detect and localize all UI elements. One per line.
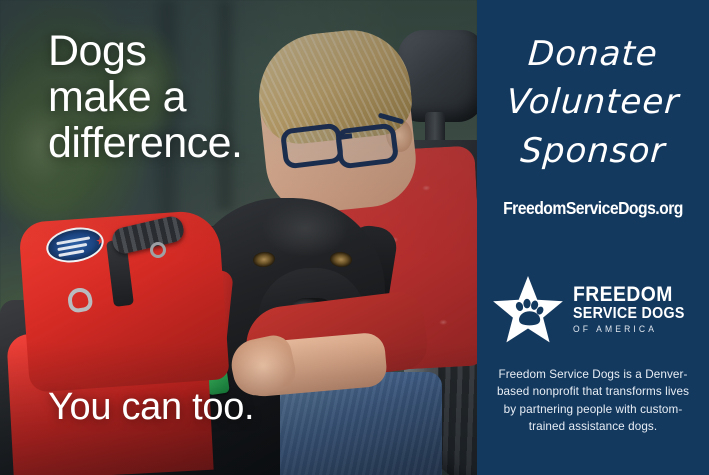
- headline-text: Dogs make a difference.: [48, 28, 243, 166]
- call-to-action-list: Donate Volunteer Sponsor: [477, 30, 709, 175]
- logo-line-freedom: FREEDOM: [573, 284, 685, 305]
- logo-line-of-america: OF AMERICA: [573, 323, 688, 337]
- tagline-text: You can too.: [48, 388, 254, 426]
- call-to-action-panel: Donate Volunteer Sponsor FreedomServiceD…: [477, 0, 709, 475]
- cta-donate[interactable]: Donate: [475, 30, 709, 78]
- star-with-paw-print-icon: [492, 275, 564, 345]
- logo-wordmark: FREEDOM SERVICE DOGS OF AMERICA: [573, 284, 694, 336]
- cta-volunteer[interactable]: Volunteer: [475, 78, 709, 126]
- advertisement-banner: ★ Dogs make a difference. You can too. D…: [0, 0, 709, 475]
- boy-eyeglasses: [335, 122, 399, 169]
- vest-ring: [150, 242, 166, 258]
- website-url-link[interactable]: FreedomServiceDogs.org: [489, 198, 698, 219]
- logo-line-service-dogs: SERVICE DOGS: [573, 305, 685, 323]
- cta-sponsor[interactable]: Sponsor: [475, 127, 709, 175]
- boy-with-service-dog-photo: ★ Dogs make a difference. You can too.: [0, 0, 477, 475]
- organization-description: Freedom Service Dogs is a Denver-based n…: [493, 366, 693, 435]
- boy-eyeglasses: [280, 122, 344, 169]
- freedom-service-dogs-logo: FREEDOM SERVICE DOGS OF AMERICA: [477, 272, 709, 348]
